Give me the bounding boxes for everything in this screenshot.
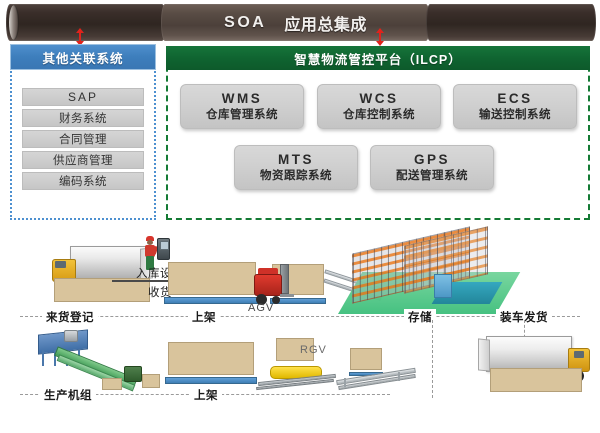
module-code: ECS xyxy=(497,90,532,108)
pallet-icon xyxy=(168,342,254,384)
truck-load-pallet xyxy=(490,368,582,392)
module-card-wcs[interactable]: WCS 仓库控制系统 xyxy=(317,84,441,129)
related-systems-header: 其他关联系统 xyxy=(10,44,156,70)
carton-stack xyxy=(350,348,382,370)
soa-title-cn: 应用总集成 xyxy=(284,11,367,35)
vertical-connector xyxy=(432,320,433,398)
list-item[interactable]: 供应商管理 xyxy=(22,151,144,169)
agv-forklift-icon xyxy=(250,264,294,306)
module-card-mts[interactable]: MTS 物资跟踪系统 xyxy=(234,145,358,190)
rgv-label: RGV xyxy=(300,344,327,356)
production-gear xyxy=(64,330,78,342)
logistics-flow-illustration: 入库设定 收货 AGV 来货登记 上架 存储 装车发货 xyxy=(0,232,600,433)
module-code: WMS xyxy=(222,90,263,108)
agv-fork xyxy=(280,294,294,297)
truck-trailer xyxy=(486,336,572,372)
pipe-end-cap xyxy=(9,5,19,40)
conveyor-pallet xyxy=(350,348,382,376)
truck-door xyxy=(478,338,490,371)
handheld-scanner-icon xyxy=(157,238,170,260)
production-line-icon xyxy=(38,330,166,392)
module-card-gps[interactable]: GPS 配送管理系统 xyxy=(370,145,494,190)
outbound-truck-icon xyxy=(478,332,594,394)
carton-stack xyxy=(490,368,582,392)
agv-label: AGV xyxy=(248,302,274,314)
conveyor-leg xyxy=(344,378,346,387)
module-name: 配送管理系统 xyxy=(396,169,468,185)
conveyor-leg xyxy=(398,372,400,381)
module-code: WCS xyxy=(360,90,399,108)
module-name: 物资跟踪系统 xyxy=(260,169,332,185)
carton-stack xyxy=(168,262,256,295)
ilcp-platform-panel xyxy=(166,46,590,220)
ilcp-platform-header: 智慧物流管控平台（ILCP） xyxy=(166,46,590,70)
stage-label-putaway-row1: 上架 xyxy=(188,309,220,325)
module-name: 输送控制系统 xyxy=(479,108,551,124)
module-name: 仓库管理系统 xyxy=(206,108,278,124)
list-item[interactable]: SAP xyxy=(22,88,144,106)
truck-window xyxy=(574,351,584,358)
warehouse-lift xyxy=(434,274,452,298)
production-motor xyxy=(124,366,142,382)
stage-label-receiving: 来货登记 xyxy=(42,309,98,325)
stage-label-production: 生产机组 xyxy=(40,387,96,403)
list-item[interactable]: 财务系统 xyxy=(22,109,144,127)
conveyor-icon xyxy=(336,348,418,382)
pallet-base xyxy=(164,297,259,304)
module-card-wms[interactable]: WMS 仓库管理系统 xyxy=(180,84,304,129)
warehouse-rack-icon xyxy=(338,238,496,314)
agv-body xyxy=(254,274,282,296)
module-card-ecs[interactable]: ECS 输送控制系统 xyxy=(453,84,577,129)
related-systems-list: SAP 财务系统 合同管理 供应商管理 编码系统 xyxy=(22,88,144,193)
list-item[interactable]: 编码系统 xyxy=(22,172,144,190)
pipe-segment-left xyxy=(6,4,166,41)
pallet-base xyxy=(165,377,258,384)
pipe-segment-right xyxy=(426,4,596,41)
soa-title: SOA 应用总集成 xyxy=(161,4,430,41)
production-output-carton xyxy=(102,378,122,390)
pallet-icon xyxy=(168,262,256,304)
carton-stack xyxy=(168,342,254,375)
truck-window xyxy=(55,261,66,268)
stage-label-putaway-row2: 上架 xyxy=(190,387,222,403)
connector-arrow-right-icon xyxy=(375,28,384,46)
soa-header-bar: SOA 应用总集成 xyxy=(0,4,600,41)
production-output-carton xyxy=(142,374,160,388)
module-name: 仓库控制系统 xyxy=(343,108,415,124)
soa-title-en: SOA xyxy=(224,14,266,32)
module-code: GPS xyxy=(414,151,450,169)
list-item[interactable]: 合同管理 xyxy=(22,130,144,148)
module-code: MTS xyxy=(278,151,314,169)
